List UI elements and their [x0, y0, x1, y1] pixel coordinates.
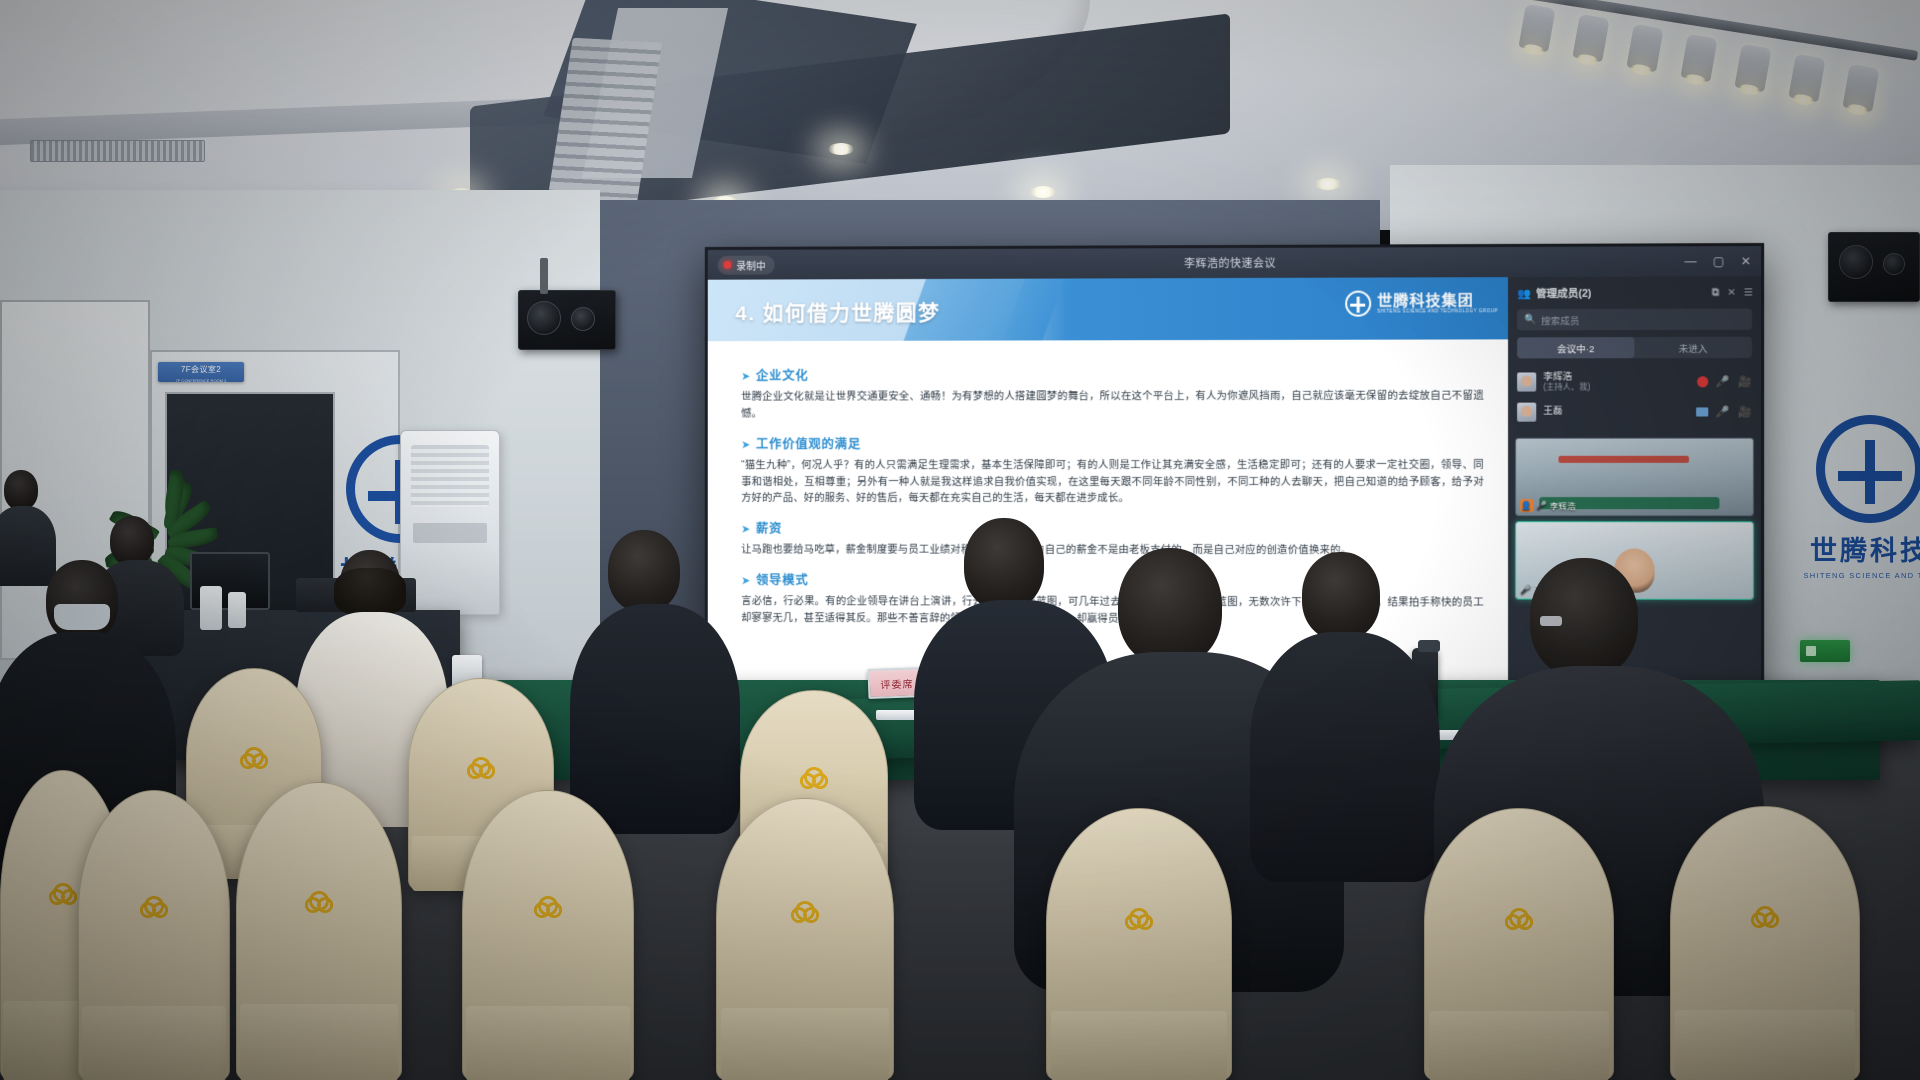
banquet-chair [78, 790, 230, 1080]
bullet-arrow-icon: ➤ [741, 575, 751, 587]
meeting-title: 李辉浩的快速会议 [708, 253, 1761, 273]
popout-icon[interactable]: ⧉ [1712, 287, 1719, 298]
company-logo-icon [1345, 291, 1371, 317]
banquet-chair [236, 782, 402, 1080]
spotlight-icon [1572, 14, 1609, 63]
member-row[interactable]: 李辉浩 (主持人、我) 🎤 🎥 [1508, 366, 1761, 397]
bullet-arrow-icon: ➤ [741, 371, 751, 383]
spotlight-icon [1626, 24, 1663, 73]
downlight-icon [1030, 186, 1056, 198]
minimize-icon[interactable]: — [1685, 254, 1697, 268]
members-panel-title: 管理成员(2) [1536, 286, 1591, 301]
camera-on-icon[interactable]: 🎥 [1738, 405, 1752, 418]
company-logo-icon [1816, 415, 1920, 523]
recording-label: 录制中 [736, 257, 766, 272]
thermos-cap [1418, 640, 1440, 652]
slide-section-body: “猫生九种”，何况人乎？有的人只需满足生理需求，基本生活保障即可；有的人则是工作… [741, 458, 1484, 509]
slide-section-heading: ➤工作价值观的满足 [741, 432, 1484, 451]
panel-close-icon[interactable]: ✕ [1727, 287, 1736, 298]
panel-header-controls[interactable]: ⧉ ✕ ☰ [1712, 287, 1753, 298]
wall-speaker-right [1828, 232, 1920, 302]
slide-logo: 世腾科技集团 SHITENG SCIENCE AND TECHNOLOGY GR… [1345, 290, 1498, 317]
meeting-room-scene: 7F会议室2 7F CONFERENCE ROOM 2 世腾科技 SHITENG… [0, 0, 1920, 1080]
host-badge-icon: 👤 [1520, 499, 1533, 512]
banquet-chair [462, 790, 634, 1080]
face-mask [54, 604, 110, 630]
members-tabs[interactable]: 会议中·2 未进入 [1517, 337, 1752, 359]
maximize-icon[interactable]: ▢ [1713, 254, 1725, 268]
wall-logo-right-en: SHITENG SCIENCE AND TEC [1765, 571, 1920, 580]
light-track [1500, 0, 1920, 150]
ceiling-air-vent [30, 140, 205, 162]
video-tile[interactable]: 👤 🎤 李辉浩 [1515, 438, 1754, 517]
slide-logo-cn: 世腾科技集团 [1377, 292, 1474, 309]
spotlight-icon [1518, 4, 1555, 53]
bottle [228, 592, 246, 628]
spotlight-icon [1788, 54, 1825, 103]
people-icon: 👥 [1517, 287, 1531, 300]
slide-logo-en: SHITENG SCIENCE AND TECHNOLOGY GROUP [1377, 309, 1498, 314]
slide-body: ➤企业文化 世腾企业文化就是让世界交通更安全、通畅！为有梦想的人搭建圆梦的舞台，… [708, 339, 1514, 629]
tab-not-joined[interactable]: 未进入 [1634, 337, 1752, 358]
slide-section-heading: ➤企业文化 [741, 364, 1484, 384]
banquet-chair [1424, 808, 1614, 1080]
camera-on-icon[interactable]: 🎥 [1738, 375, 1752, 388]
avatar [1517, 402, 1536, 421]
bullet-arrow-icon: ➤ [741, 524, 751, 536]
spotlight-icon [1680, 34, 1717, 83]
window-controls[interactable]: — ▢ ✕ [1685, 254, 1751, 268]
mic-icon: 🎤 [1536, 500, 1547, 511]
slide-header: 4. 如何借力世腾圆梦 世腾科技集团 SHITENG SCIENCE AND T… [708, 277, 1514, 341]
slide-section-body: 让马跑也要给马吃草，薪金制度要与员工业绩对称。要让员工明白自己的薪金不是由老板支… [741, 543, 1484, 561]
record-dot-icon [724, 261, 732, 269]
member-controls[interactable]: 🎤 🎥 [1697, 375, 1752, 388]
member-row[interactable]: 王磊 🎤 🎥 [1508, 396, 1761, 426]
member-controls[interactable]: 🎤 🎥 [1696, 405, 1752, 418]
room-number-sign: 7F会议室2 7F CONFERENCE ROOM 2 [158, 362, 244, 382]
member-name: 王磊 [1543, 406, 1562, 417]
emergency-exit-sign [1800, 640, 1850, 662]
search-member-input[interactable]: 🔍 搜索成员 [1517, 309, 1752, 331]
search-icon: 🔍 [1524, 314, 1536, 325]
spotlight-icon [1842, 64, 1879, 113]
members-panel-header: 👥 管理成员(2) ⧉ ✕ ☰ [1508, 276, 1761, 307]
room-sign-en: 7F CONFERENCE ROOM 2 [158, 375, 244, 386]
bullet-arrow-icon: ➤ [741, 439, 751, 451]
wall-logo-right-cn: 世腾科技 [1765, 529, 1920, 568]
downlight-icon [828, 143, 854, 155]
tab-in-meeting[interactable]: 会议中·2 [1517, 337, 1634, 358]
video-tile-label: 👤 🎤 李辉浩 [1520, 499, 1576, 512]
slide-section-body: 世腾企业文化就是让世界交通更安全、通畅！为有梦想的人搭建圆梦的舞台，所以在这个平… [741, 389, 1484, 424]
menu-icon[interactable]: ☰ [1744, 287, 1753, 298]
slide-section-heading: ➤薪资 [741, 518, 1484, 538]
record-status-icon[interactable] [1697, 376, 1708, 387]
mic-on-icon[interactable]: 🎤 [1716, 405, 1730, 418]
recording-indicator: 录制中 [718, 255, 775, 274]
room-sign-cn: 7F会议室2 [181, 365, 221, 374]
judge-placard-label: 评委席 [880, 675, 914, 691]
screen-share-icon[interactable] [1696, 407, 1708, 416]
banquet-chair [1670, 806, 1860, 1080]
avatar [1517, 372, 1536, 391]
member-role: (主持人、我) [1543, 382, 1590, 392]
eyeglasses [1540, 616, 1562, 626]
slide-title: 4. 如何借力世腾圆梦 [735, 297, 940, 327]
mic-on-icon[interactable]: 🎤 [1716, 375, 1730, 388]
wall-logo-right: 世腾科技 SHITENG SCIENCE AND TEC [1765, 415, 1920, 580]
wall-speaker-left [518, 290, 616, 350]
member-name: 李辉浩 [1543, 371, 1572, 382]
speaker-mount-left [540, 258, 548, 294]
meeting-window-titlebar: 录制中 李辉浩的快速会议 — ▢ ✕ [708, 246, 1761, 280]
spotlight-icon [1734, 44, 1771, 93]
close-icon[interactable]: ✕ [1741, 254, 1751, 268]
video-tile-name: 李辉浩 [1550, 500, 1576, 512]
mic-icon: 🎤 [1520, 584, 1531, 595]
bottle [200, 586, 222, 630]
banquet-chair [1046, 808, 1232, 1080]
banquet-chair [716, 798, 894, 1080]
search-placeholder: 搜索成员 [1541, 313, 1579, 327]
downlight-icon [1315, 178, 1341, 190]
